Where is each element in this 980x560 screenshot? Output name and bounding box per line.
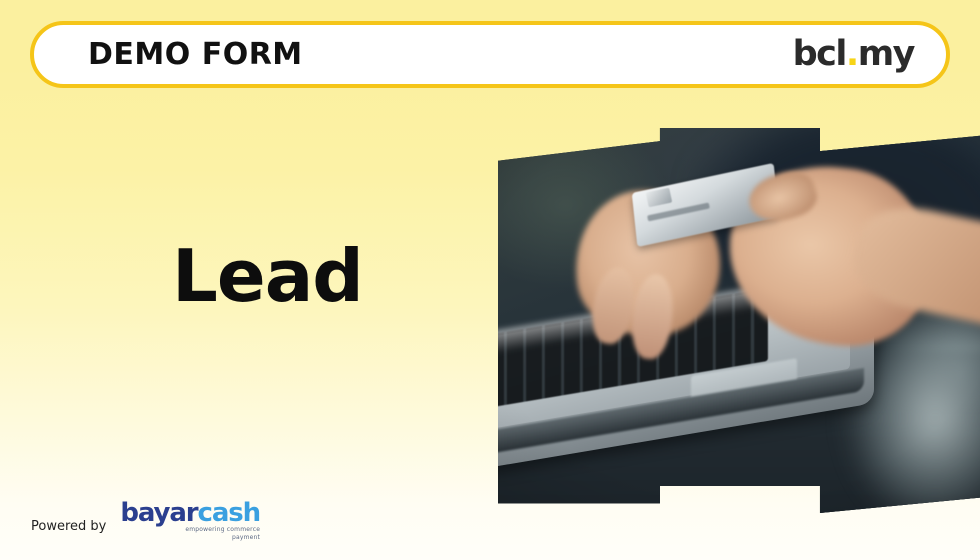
page-title: DEMO FORM [88, 40, 303, 70]
brand-suffix: my [858, 37, 914, 72]
brand-prefix: bcl [793, 37, 846, 72]
bayarcash-wordmark: bayarcash [120, 500, 260, 526]
header-bar: DEMO FORM bcl.my [30, 21, 950, 88]
powered-by-label: Powered by [31, 520, 106, 542]
bayarcash-tagline-line-two: payment [232, 534, 260, 542]
brand-dot: . [846, 37, 858, 72]
bayarcash-tagline-line-one: empowering commerce [185, 526, 260, 534]
slide-canvas: DEMO FORM bcl.my Lead [0, 0, 980, 560]
bayarcash-part-one: bayar [120, 498, 197, 528]
photo-vignette [498, 128, 980, 513]
bayarcash-logo: bayarcash empowering commerce payment [120, 500, 260, 542]
hero-title: Lead [172, 240, 363, 312]
bcl-my-logo: bcl.my [793, 37, 914, 72]
hero-photo [498, 128, 980, 513]
bayarcash-part-two: cash [198, 498, 261, 528]
hero-photo-image [498, 128, 980, 513]
footer: Powered by bayarcash empowering commerce… [31, 500, 260, 542]
